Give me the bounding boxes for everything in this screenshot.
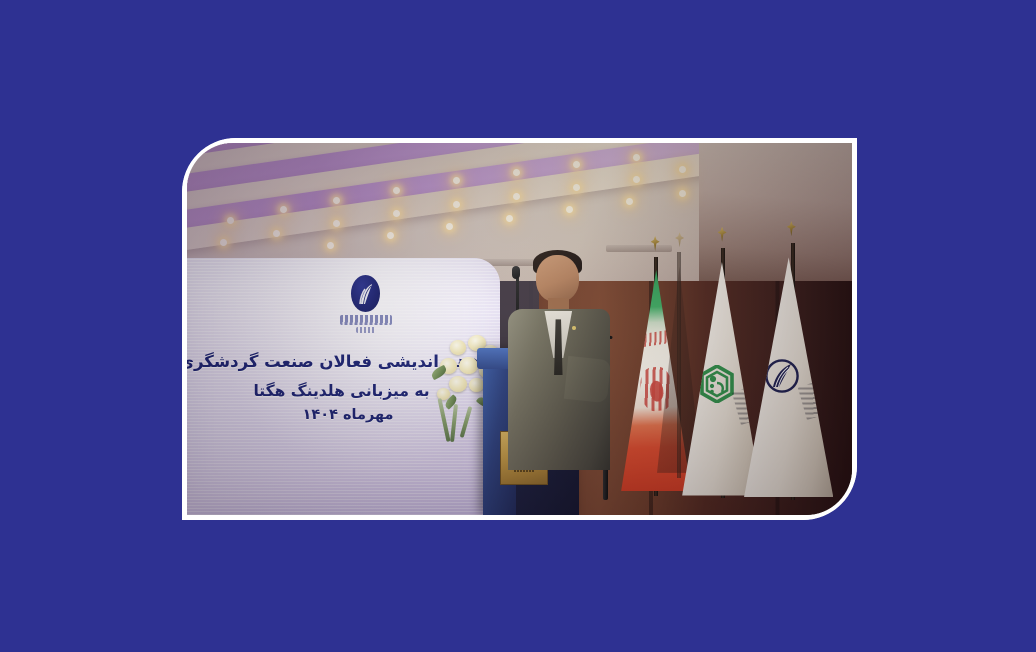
hegta-flag-wordmark [798,382,825,420]
flower-sprig [450,403,458,441]
photo-image: ست «هم اندیشی فعالان صنعت گردشگری» به می… [187,143,852,515]
slide-logo-subwordmark [356,327,376,333]
feather-icon [357,282,375,306]
speaker-lapel-pin-icon [572,326,576,330]
speaker-arm [564,356,611,403]
page-root: { "page": { "background_color": "#2e3192… [0,0,1036,652]
flower-bloom [459,357,478,374]
slide-logo-wordmark [340,315,392,325]
photo-card: ست «هم اندیشی فعالان صنعت گردشگری» به می… [182,138,857,520]
speaker-head [536,255,579,302]
sso-flag-wordmark [732,388,759,426]
hegta-circle-logo-icon [764,358,800,394]
flower-sprig [460,406,473,438]
flower-bloom [449,376,467,392]
flag-finial-icon [675,232,684,247]
social-security-hexagon-icon [700,365,734,403]
flower-bloom [469,378,484,392]
iran-flag-label: پرچم جمهوری اسلامی ایران [626,236,627,237]
slide-logo [340,275,392,333]
speaker-person [506,255,612,471]
hegta-logo-icon [351,275,380,312]
flag-finial-icon [718,227,727,242]
sso-flag-label: سازمان تامین اجتماعی [689,227,690,228]
hegta-holding-flag: هلدینگ هگتا [759,221,852,500]
sso-flag-cloth [682,262,762,496]
flower-bloom [450,340,466,355]
hegta-flag-label: هلدینگ هگتا [759,221,760,222]
flag-finial-icon [787,221,796,236]
